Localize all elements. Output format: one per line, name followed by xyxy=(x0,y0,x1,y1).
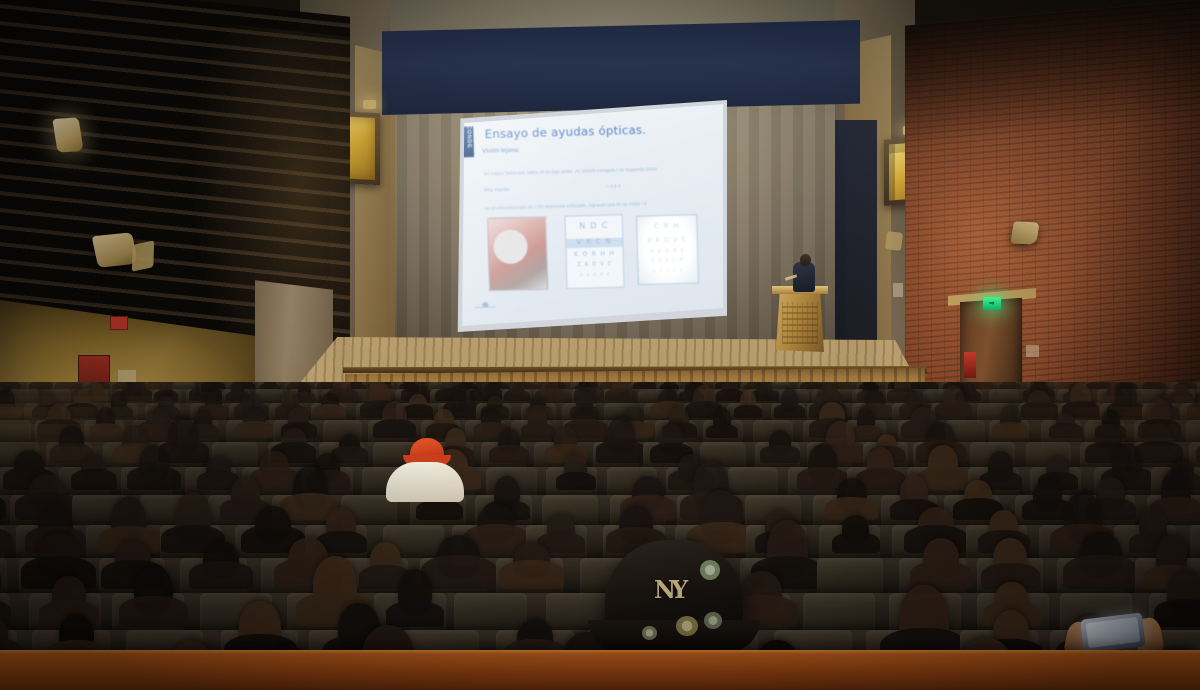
audience-member-shoulders xyxy=(1049,423,1082,438)
slide-body-line-3: Se prueba telescopio de 2.8X monocular e… xyxy=(485,201,647,211)
exit-sign-icon: ⇨ xyxy=(983,297,1001,310)
presenter-head xyxy=(800,254,811,266)
cap-embroidery-flower-1 xyxy=(700,560,720,580)
podium-carving xyxy=(782,302,818,344)
slide-image-snellen-chart-2: C R H Z K D V C H V O R K K H K C N D O … xyxy=(636,214,699,285)
audience-member-shoulders xyxy=(521,423,555,438)
audience-member-shoulders xyxy=(373,419,417,439)
ny-cap-logo: NY xyxy=(654,578,688,604)
exit-sign-text: ⇨ xyxy=(989,300,994,307)
wall-light-left-icon xyxy=(52,117,83,152)
audience-member-shoulders xyxy=(89,423,123,438)
chart2-row-1: C R H xyxy=(637,221,696,231)
audience-member-shoulders xyxy=(416,500,462,521)
audience-member-shoulders xyxy=(189,561,253,589)
audience-member-shoulders xyxy=(119,596,188,627)
audience-member-shoulders xyxy=(706,424,739,439)
audience-member-shoulders xyxy=(935,401,972,418)
audience-member-shoulders xyxy=(734,405,762,418)
wall-plate-right xyxy=(1026,345,1039,357)
railing-highlight xyxy=(0,650,1200,654)
cap-embroidery-flower-4 xyxy=(642,626,657,640)
audience-member-shoulders xyxy=(1021,401,1058,418)
audience-member-shoulders xyxy=(0,493,6,520)
presentation-slide: CONDE Ensayo de ayudas ópticas. Visión l… xyxy=(459,103,723,326)
audience-member-shoulders xyxy=(235,421,274,438)
chart1-row-3: K O R H H xyxy=(567,250,623,259)
fire-extinguisher-right xyxy=(964,352,976,378)
projection-screen: CONDE Ensayo de ayudas ópticas. Visión l… xyxy=(459,103,723,326)
cap-embroidery-flower-2 xyxy=(676,616,698,636)
slide-body-line-1: Se coloca Telescopio sobre OI de bajo po… xyxy=(484,166,657,176)
audience-member-shoulders xyxy=(489,445,529,463)
audience-member-shoulders xyxy=(0,527,13,554)
emergency-box-left-icon xyxy=(110,316,128,330)
audience-member-shoulders xyxy=(499,560,564,589)
slide-title: Ensayo de ayudas ópticas. xyxy=(484,123,646,142)
audience-member-shoulders xyxy=(403,404,433,418)
audience-member-shoulders xyxy=(556,472,596,490)
audience-member-shoulders xyxy=(386,601,444,627)
audience-member-shoulders xyxy=(1169,391,1193,402)
chart2-row-5: D O V H R xyxy=(638,267,697,274)
audience-member-shoulders xyxy=(71,469,118,490)
cap-embroidery-flower-3 xyxy=(704,612,722,629)
audience-member-shoulders xyxy=(760,445,799,463)
audience-member-shoulders xyxy=(596,440,646,462)
ny-cap-brim xyxy=(588,620,760,652)
chart1-row-5: H V O R K xyxy=(567,271,623,278)
artwork-spotlight-left-icon xyxy=(363,100,376,109)
orange-cap-attendee-shirt xyxy=(386,462,464,502)
chart1-row-2: V K C N xyxy=(566,237,622,247)
wall-speaker-left-bracket xyxy=(132,240,154,271)
conde-eye-watermark-icon xyxy=(475,299,496,313)
audience-member-shoulders xyxy=(774,404,804,418)
conde-logo-text: CONDE xyxy=(465,121,472,152)
audience-member-shoulders xyxy=(832,532,880,553)
audience-member-shoulders xyxy=(314,404,346,418)
audience-member-shoulders xyxy=(504,390,530,402)
audience-member-shoulders xyxy=(127,466,181,490)
audience-member-shoulders xyxy=(1063,555,1138,589)
slide-body-line-2: Mag angular: xyxy=(484,187,510,193)
audience-member-shoulders xyxy=(421,555,497,589)
audience-member-shoulders xyxy=(851,425,882,439)
wall-speaker-right-2 xyxy=(885,231,903,251)
chart2-row-3: H V O R K xyxy=(638,248,697,256)
foreground-railing xyxy=(0,650,1200,690)
wall-speaker-right xyxy=(1010,221,1039,244)
chart2-row-4: K H K C N xyxy=(638,258,697,265)
stage-curtain-valance xyxy=(382,20,860,115)
audience-member-shoulders xyxy=(992,422,1028,438)
chart1-row-1: N D C xyxy=(566,220,622,231)
chart2-row-2: Z K D V C xyxy=(638,236,697,245)
audience-member-shoulders xyxy=(1154,599,1200,627)
audience-member-shoulders xyxy=(605,388,636,402)
slide-subtitle: Visión lejana: xyxy=(482,147,520,155)
audience-member-shoulders xyxy=(1187,402,1200,418)
slide-formula-result: = 2.5 X xyxy=(606,184,620,189)
chart1-row-4: Z K D V C xyxy=(567,261,623,269)
wall-box-right xyxy=(893,283,903,297)
audience-member-shoulders xyxy=(0,404,22,418)
slide-image-snellen-chart-1: N D C V K C N K O R H H Z K D V C H V O … xyxy=(565,214,625,289)
side-door-right[interactable] xyxy=(960,298,1022,394)
slide-image-eye-photo xyxy=(487,216,548,291)
auditorium-photo: CONDE Ensayo de ayudas ópticas. Visión l… xyxy=(0,0,1200,690)
